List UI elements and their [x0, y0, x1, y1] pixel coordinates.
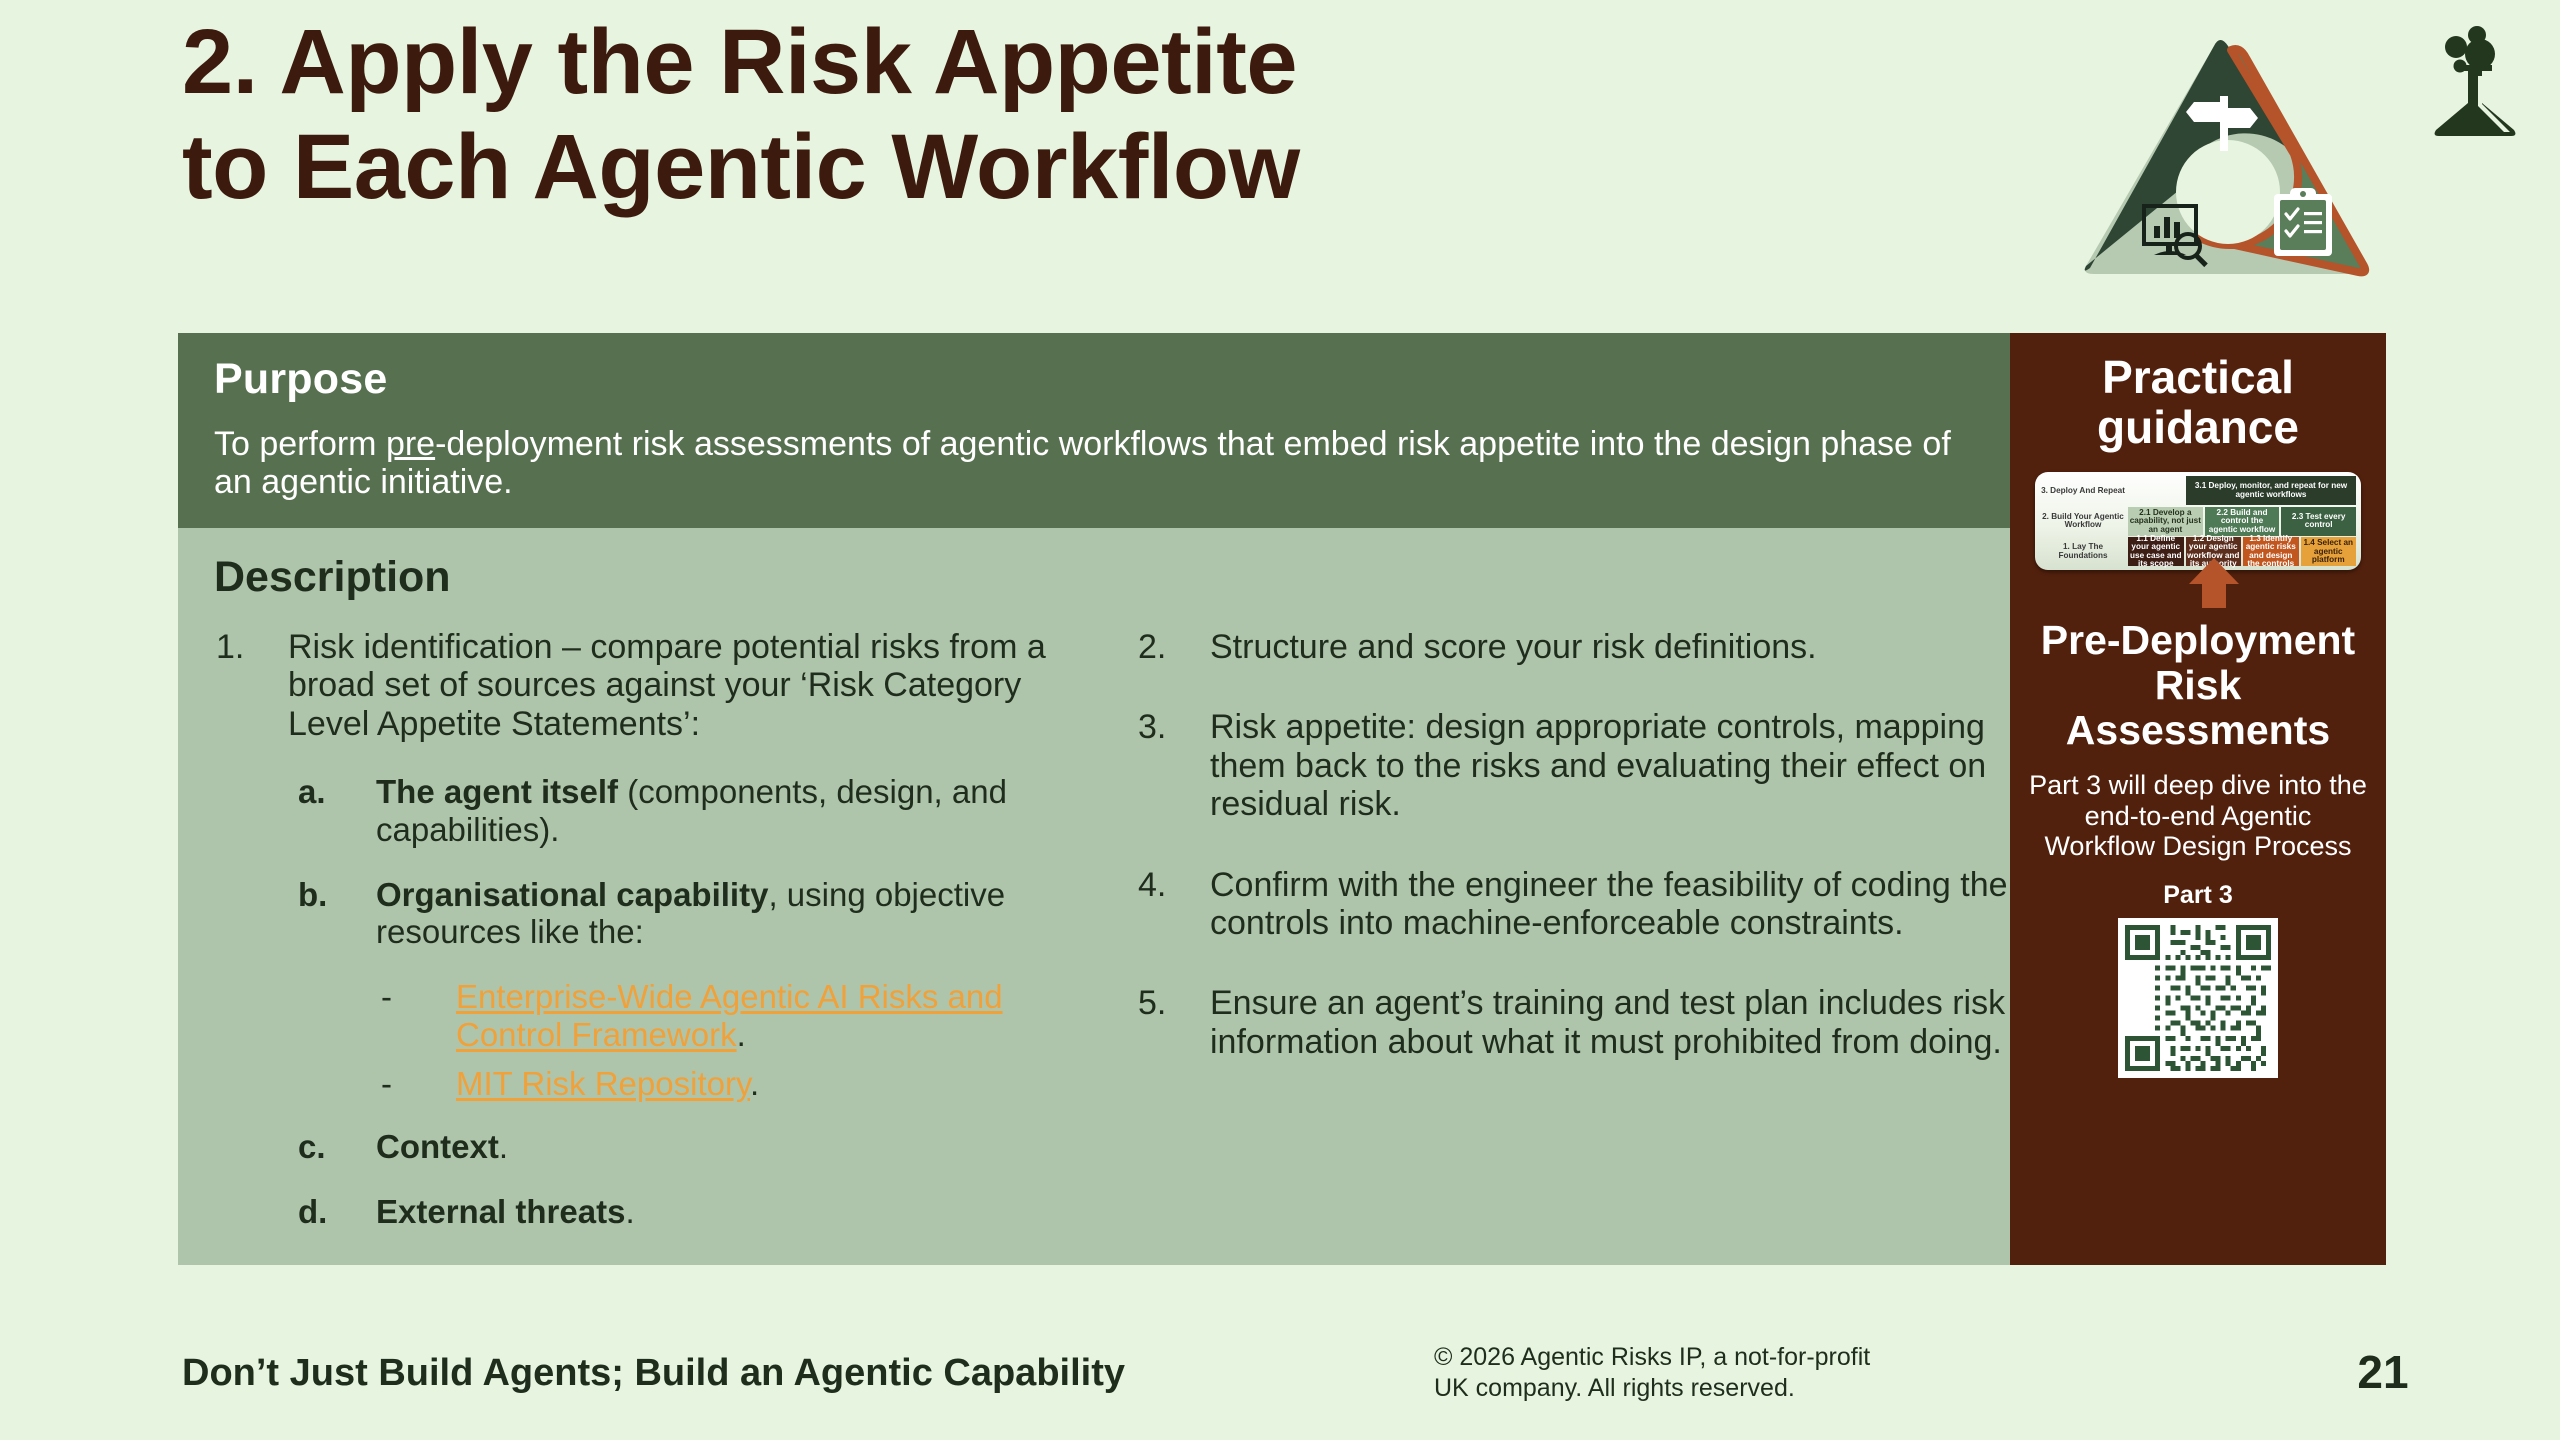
thumbnail-cell-3-1: 3.1 Deploy, monitor, and repeat for new …: [2186, 476, 2356, 505]
list-marker: 3.: [1138, 708, 1200, 746]
triangle-brand-logo: [2068, 16, 2378, 284]
description-heading: Description: [214, 553, 451, 602]
slide-header: 2. Apply the Risk Appetite to Each Agent…: [0, 0, 2560, 300]
list-item: a. The agent itself (components, design,…: [216, 773, 1106, 848]
list-marker: d.: [298, 1193, 358, 1230]
page-title-line-2: to Each Agentic Workflow: [182, 115, 1782, 220]
clipboard-checklist-icon: [2274, 188, 2332, 256]
description-column-right: 2. Structure and score your risk definit…: [1138, 628, 2008, 1091]
list-item: - Enterprise-Wide Agentic AI Risks and C…: [216, 978, 1106, 1053]
thumbnail-row: 3. Deploy And Repeat 3.1 Deploy, monitor…: [2040, 476, 2356, 505]
list-item-text: MIT Risk Repository.: [456, 1065, 1106, 1102]
list-item-text: The agent itself (components, design, an…: [376, 773, 1106, 848]
list-item-rest: .: [625, 1193, 634, 1230]
list-item-bold: The agent itself: [376, 773, 618, 810]
link-mit-risk-repository[interactable]: MIT Risk Repository: [456, 1065, 750, 1102]
list-item: c. Context.: [216, 1128, 1106, 1165]
list-item-rest: .: [750, 1065, 759, 1102]
thumbnail-spacer: [2128, 476, 2184, 505]
up-arrow-callout-icon: [2187, 556, 2241, 610]
list-marker: 4.: [1138, 866, 1200, 904]
practical-guidance-sidebar: Practical guidance 3. Deploy And Repeat …: [2010, 333, 2386, 1265]
thumbnail-cell-2-1: 2.1 Develop a capability, not just an ag…: [2128, 507, 2203, 536]
sidebar-heading: Practical guidance: [2010, 353, 2386, 452]
list-item: 3. Risk appetite: design appropriate con…: [1138, 708, 2008, 823]
list-item: b. Organisational capability, using obje…: [216, 876, 1106, 951]
list-marker: b.: [298, 876, 358, 913]
thumbnail-cell-2-2: 2.2 Build and control the agentic workfl…: [2205, 507, 2280, 536]
thumbnail-row-label: 1. Lay The Foundations: [2040, 537, 2126, 566]
thumbnail-row-label: 2. Build Your Agentic Workflow: [2040, 507, 2126, 536]
thumbnail-row: 2. Build Your Agentic Workflow 2.1 Devel…: [2040, 507, 2356, 536]
purpose-text-before: To perform: [214, 425, 386, 463]
thumbnail-row-label: 3. Deploy And Repeat: [2040, 476, 2126, 505]
list-item: 4. Confirm with the engineer the feasibi…: [1138, 866, 2008, 943]
list-item: 1. Risk identification – compare potenti…: [216, 628, 1106, 743]
footer-copyright: © 2026 Agentic Risks IP, a not-for-profi…: [1434, 1342, 2034, 1403]
list-item-bold: Organisational capability: [376, 876, 768, 913]
list-marker: 5.: [1138, 984, 1200, 1022]
purpose-text-underlined: pre: [386, 425, 435, 463]
list-item-text: Confirm with the engineer the feasibilit…: [1210, 866, 2008, 943]
thumbnail-cell-2-3: 2.3 Test every control: [2281, 507, 2356, 536]
thumbnail-cell-1-1: 1.1 Define your agentic use case and its…: [2128, 537, 2184, 566]
list-item-text: Context.: [376, 1128, 1106, 1165]
list-item-text: Organisational capability, using objecti…: [376, 876, 1106, 951]
sidebar-note: Part 3 will deep dive into the end-to-en…: [2010, 770, 2386, 861]
list-marker: c.: [298, 1128, 358, 1165]
description-column-left: 1. Risk identification – compare potenti…: [216, 628, 1106, 1259]
content-card: Purpose To perform pre-deployment risk a…: [178, 333, 2386, 1265]
list-item-text: External threats.: [376, 1193, 1106, 1230]
list-item: 5. Ensure an agent’s training and test p…: [1138, 984, 2008, 1061]
purpose-heading: Purpose: [214, 355, 387, 404]
qr-code-part-3[interactable]: [2118, 918, 2278, 1078]
list-item-bold: Context: [376, 1128, 499, 1165]
list-marker: 1.: [216, 628, 278, 666]
list-item-rest: .: [737, 1016, 746, 1053]
list-marker: -: [381, 978, 441, 1015]
description-columns: 1. Risk identification – compare potenti…: [178, 628, 2010, 1228]
list-item: - MIT Risk Repository.: [216, 1065, 1106, 1102]
page-title: 2. Apply the Risk Appetite to Each Agent…: [182, 10, 1782, 220]
purpose-text-after: -deployment risk assessments of agentic …: [214, 425, 1951, 501]
page-title-line-1: 2. Apply the Risk Appetite: [182, 10, 1782, 115]
footer-copyright-line-1: © 2026 Agentic Risks IP, a not-for-profi…: [1434, 1342, 2034, 1373]
workflow-thumbnail-wrapper: 3. Deploy And Repeat 3.1 Deploy, monitor…: [2035, 472, 2361, 576]
logo-center-cutout: [2176, 140, 2280, 244]
link-enterprise-wide-framework[interactable]: Enterprise-Wide Agentic AI Risks and Con…: [456, 978, 1003, 1052]
qr-code-label: Part 3: [2010, 881, 2386, 910]
list-item-text: Risk identification – compare potential …: [288, 628, 1106, 743]
thumbnail-cell-1-4: 1.4 Select an agentic platform: [2301, 537, 2357, 566]
list-marker: -: [381, 1065, 441, 1102]
flask-icon: [2420, 18, 2530, 138]
list-item-rest: .: [499, 1128, 508, 1165]
card-main-area: Purpose To perform pre-deployment risk a…: [178, 333, 2010, 1265]
sidebar-subtitle: Pre-Deployment Risk Assessments: [2010, 618, 2386, 752]
thumbnail-cell-1-3: 1.3 Identify agentic risks and design th…: [2243, 537, 2299, 566]
list-item: d. External threats.: [216, 1193, 1106, 1230]
list-marker: a.: [298, 773, 358, 810]
list-item: 2. Structure and score your risk definit…: [1138, 628, 2008, 666]
purpose-text: To perform pre-deployment risk assessmen…: [214, 425, 1984, 501]
page-number: 21: [2328, 1345, 2438, 1399]
list-item-bold: External threats: [376, 1193, 625, 1230]
list-marker: 2.: [1138, 628, 1200, 666]
list-item-text: Ensure an agent’s training and test plan…: [1210, 984, 2008, 1061]
purpose-section: Purpose To perform pre-deployment risk a…: [178, 333, 2010, 528]
list-item-text: Structure and score your risk definition…: [1210, 628, 2008, 666]
list-item-text: Risk appetite: design appropriate contro…: [1210, 708, 2008, 823]
list-item-text: Enterprise-Wide Agentic AI Risks and Con…: [456, 978, 1106, 1053]
footer-tagline: Don’t Just Build Agents; Build an Agenti…: [182, 1352, 1125, 1395]
footer-copyright-line-2: UK company. All rights reserved.: [1434, 1373, 2034, 1404]
